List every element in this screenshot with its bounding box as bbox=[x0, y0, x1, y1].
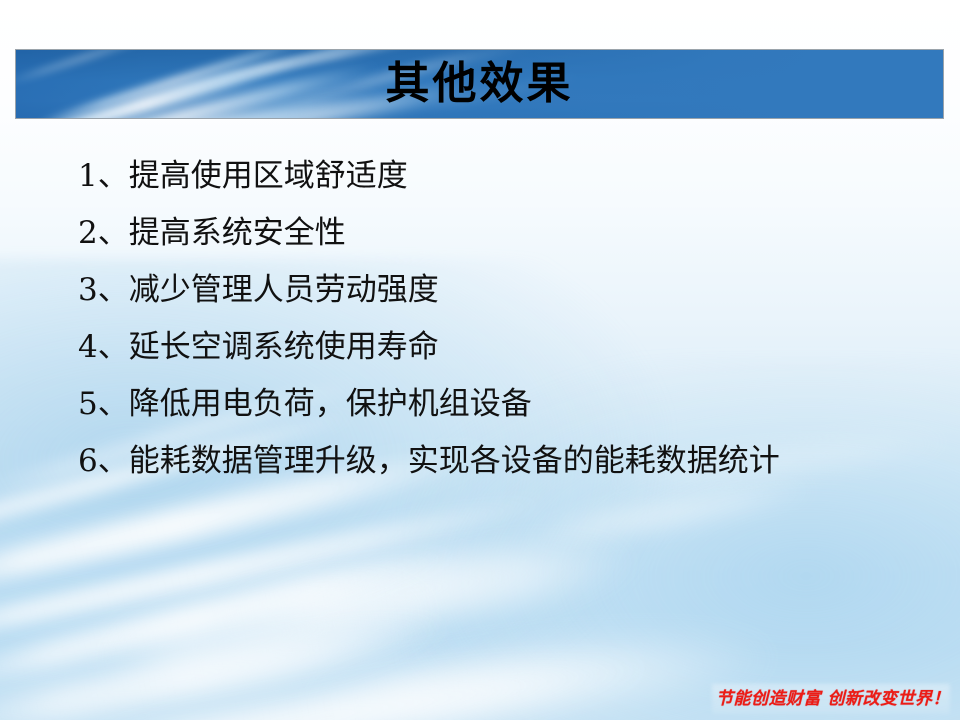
list-item: 1、提高使用区域舒适度 bbox=[78, 148, 928, 205]
list-item: 4、延长空调系统使用寿命 bbox=[78, 319, 928, 376]
list-item: 3、减少管理人员劳动强度 bbox=[78, 262, 928, 319]
list-item: 5、降低用电负荷，保护机组设备 bbox=[78, 376, 928, 433]
slide-title: 其他效果 bbox=[16, 62, 943, 106]
slide-canvas: 其他效果 1、提高使用区域舒适度 2、提高系统安全性 3、减少管理人员劳动强度 … bbox=[0, 0, 960, 720]
bullet-list: 1、提高使用区域舒适度 2、提高系统安全性 3、减少管理人员劳动强度 4、延长空… bbox=[78, 148, 928, 490]
title-banner: 其他效果 bbox=[15, 49, 944, 119]
footer-slogan: 节能创造财富 创新改变世界！ bbox=[712, 687, 954, 711]
list-item: 2、提高系统安全性 bbox=[78, 205, 928, 262]
list-item: 6、能耗数据管理升级，实现各设备的能耗数据统计 bbox=[78, 433, 928, 490]
